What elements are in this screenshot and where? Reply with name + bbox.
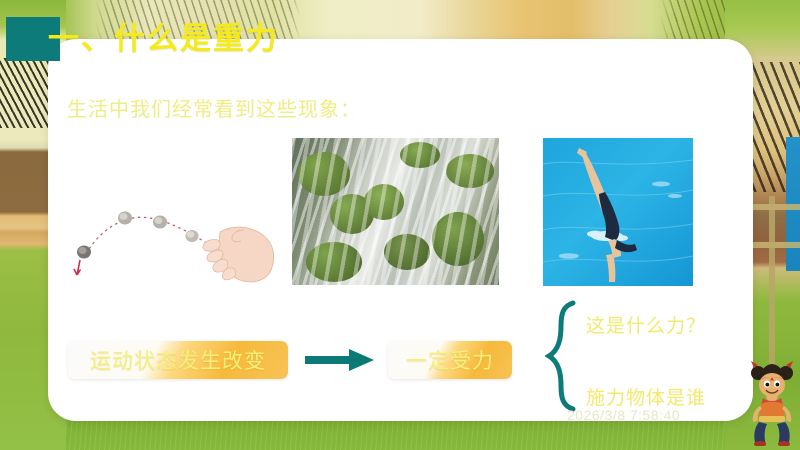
- flow-effect-box: 一定受力: [388, 341, 512, 379]
- slide-canvas: 一、什么是重力 生活中我们经常看到这些现象：: [0, 0, 800, 450]
- image-diver: [543, 138, 693, 286]
- nezha-character-icon: [746, 358, 798, 446]
- subtitle-text: 生活中我们经常看到这些现象：: [67, 93, 361, 122]
- curly-brace-icon: [545, 300, 579, 412]
- page-title: 一、什么是重力: [48, 13, 279, 58]
- timestamp-text: 2026/3/8 7:58:40: [567, 407, 680, 423]
- question-text-2: 施力物体是谁: [586, 383, 706, 410]
- image-waterfall: [292, 138, 499, 285]
- flow-cause-box: 运动状态发生改变: [68, 341, 288, 379]
- image-hand-throwing-stone: [68, 196, 283, 286]
- question-text-1: 这是什么力？: [586, 311, 706, 338]
- right-arrow-icon: [305, 348, 375, 372]
